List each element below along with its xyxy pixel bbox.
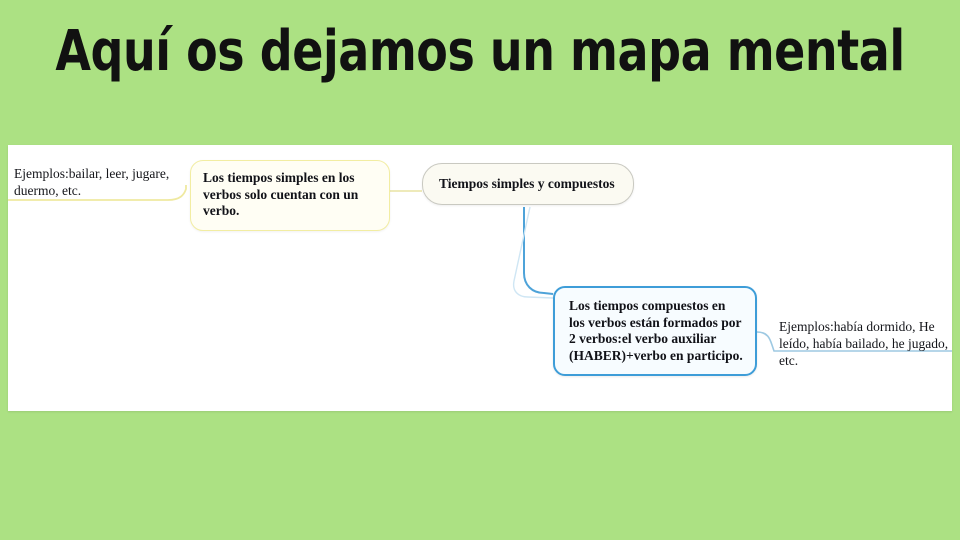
leaf-label-compuestos: Ejemplos:había dormido, He leído, había … <box>779 318 955 369</box>
page-title: Aquí os dejamos un mapa mental <box>38 19 921 84</box>
slide-canvas: Aquí os dejamos un mapa mental Ejemplos:… <box>0 0 960 540</box>
mindmap-panel: Ejemplos:bailar, leer, jugare, duermo, e… <box>8 145 952 411</box>
node-tiempos-simples[interactable]: Los tiempos simples en los verbos solo c… <box>190 160 390 231</box>
node-tiempos-compuestos[interactable]: Los tiempos compuestos en los verbos est… <box>553 286 757 376</box>
node-central-tiempos-simples-y-compuestos[interactable]: Tiempos simples y compuestos <box>422 163 634 205</box>
leaf-label-simples: Ejemplos:bailar, leer, jugare, duermo, e… <box>14 165 186 199</box>
